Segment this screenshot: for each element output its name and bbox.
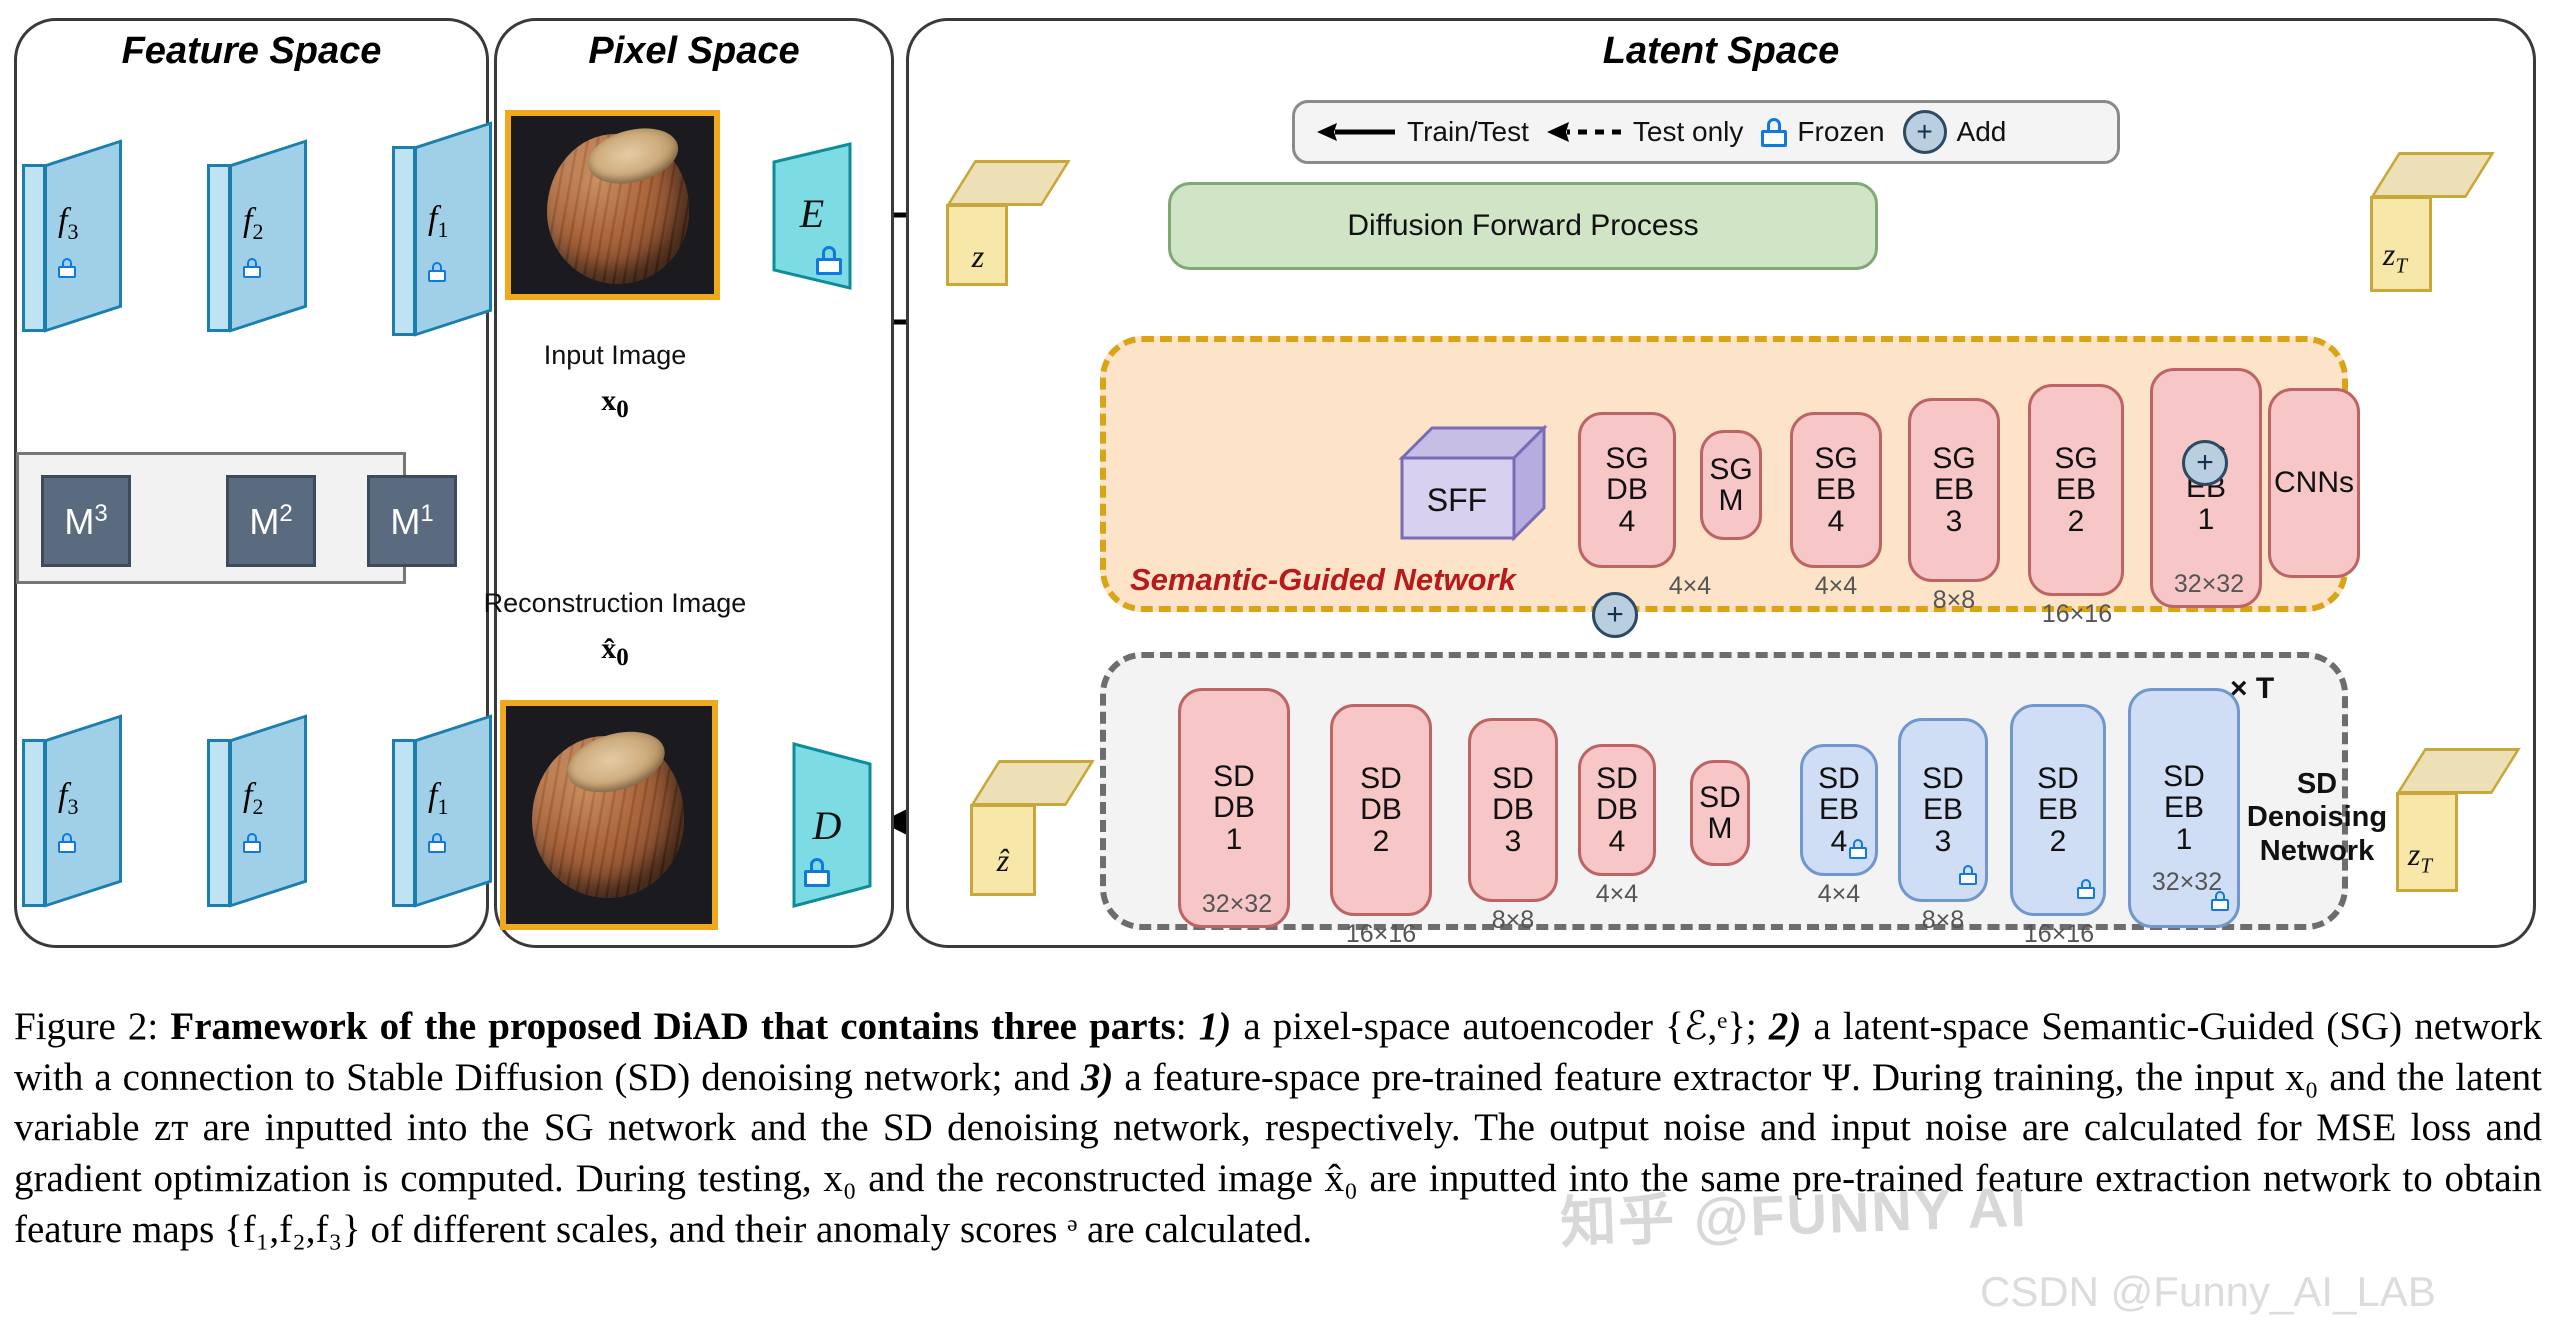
recon-image-symbol: x̂0 <box>450 632 780 672</box>
sg-block-dim-5: 32×32 <box>2153 571 2265 597</box>
slab-face <box>229 714 307 907</box>
solid-arrow-icon <box>1317 121 1397 143</box>
input-image-symbol: x0 <box>470 384 760 424</box>
latent-z-cube: z <box>940 160 1060 290</box>
block-line-3: 3 <box>1935 826 1952 857</box>
sg-block-dim-4: 16×16 <box>2022 600 2132 629</box>
sg-block-sg-m: SG M <box>1700 430 1762 540</box>
legend-label: Frozen <box>1797 116 1884 148</box>
latent-zT-cube-top: zT <box>2360 152 2500 292</box>
input-image <box>505 110 720 300</box>
caption-item-2: 2) <box>1769 1005 1802 1048</box>
block-line-2: DB <box>1492 794 1534 825</box>
sg-block-dim-3: 8×8 <box>1914 586 1994 615</box>
frozen-lock-icon <box>58 258 76 283</box>
frozen-lock-icon <box>1959 860 1977 891</box>
legend-train-test: Train/Test <box>1317 116 1529 148</box>
legend-label: Add <box>1957 116 2007 148</box>
watermark-csdn: CSDN @Funny_AI_LAB <box>1980 1268 2436 1316</box>
block-line-1: SD <box>1699 782 1741 813</box>
block-line-1: SG <box>1814 443 1857 474</box>
watermark-zhihu: 知乎 @FUNNY AI <box>1559 1162 2029 1259</box>
caption-bold-1: Framework of the proposed DiAD that cont… <box>170 1005 1175 1048</box>
cube-top-face <box>2370 152 2495 198</box>
block-line-2: M <box>1708 813 1733 844</box>
caption-item-1: 1) <box>1199 1005 1232 1048</box>
figure-caption: Figure 2: Framework of the proposed DiAD… <box>14 1002 2542 1255</box>
decoder-block: D <box>782 742 872 908</box>
cnns-label: CNNs <box>2274 467 2354 498</box>
block-line-3: 1 <box>2176 824 2193 855</box>
frozen-lock-icon <box>1761 118 1787 147</box>
block-line-2: EB <box>2056 474 2096 505</box>
add-circle-icon: + <box>1903 110 1947 154</box>
metric-block-label: M2 <box>249 500 292 543</box>
latent-z-hat-cube: ẑ <box>962 760 1092 900</box>
dashed-arrow-icon <box>1547 121 1623 143</box>
slab-face <box>44 139 122 332</box>
block-line-2: EB <box>1819 794 1859 825</box>
slab-face <box>44 714 122 907</box>
block-line-2: M <box>1719 485 1744 516</box>
sg-block-sg-eb-4: SG EB 4 <box>1790 412 1882 568</box>
slab-side <box>22 164 46 332</box>
slab-face <box>414 714 492 907</box>
sg-block-dim-0: 4×4 <box>1650 572 1730 601</box>
frozen-lock-icon <box>58 833 76 858</box>
metric-block-m1: M1 <box>367 475 457 567</box>
input-image-caption: Input Image <box>470 340 760 371</box>
sg-block-sg-db-4: SG DB 4 <box>1578 412 1676 568</box>
frozen-lock-icon <box>804 858 830 892</box>
legend-frozen: Frozen <box>1761 116 1884 148</box>
latent-zT-label-bottom: zT <box>2350 836 2490 878</box>
feature-label-f3: f3 <box>58 777 78 820</box>
block-line-3: 2 <box>2050 826 2067 857</box>
decoder-symbol: D <box>782 802 872 849</box>
block-line-1: SD <box>1213 761 1255 792</box>
sd-block-sd-eb-4: SD EB 4 <box>1800 744 1878 876</box>
sd-block-dim-7: 16×16 <box>2004 920 2114 949</box>
feature-label-f1: f1 <box>428 777 448 820</box>
block-line-3: 3 <box>1505 826 1522 857</box>
block-line-3: 4 <box>1609 826 1626 857</box>
feature-label-f2: f2 <box>243 777 263 820</box>
sd-block-dim-2: 8×8 <box>1468 906 1558 935</box>
block-line-1: SG <box>1605 443 1648 474</box>
block-line-1: SG <box>1709 454 1752 485</box>
block-line-1: SG <box>2054 443 2097 474</box>
caption-text-1: : <box>1176 1005 1199 1048</box>
slab-side <box>392 146 416 336</box>
feature-label-f2: f2 <box>243 202 263 245</box>
latent-zT-label: zT <box>2325 236 2465 278</box>
sg-block-sg-eb-2: SG EB 2 <box>2028 384 2124 596</box>
semantic-guided-network-title: Semantic-Guided Network <box>1130 562 1516 598</box>
sd-block-dim-5: 4×4 <box>1800 880 1878 909</box>
sdn-line-2: Denoising <box>2247 801 2387 833</box>
block-line-2: DB <box>1596 794 1638 825</box>
block-line-3: 2 <box>1373 826 1390 857</box>
feature-label-f1: f1 <box>428 200 448 243</box>
frozen-lock-icon <box>243 833 261 858</box>
encoder-block: E <box>772 142 852 290</box>
frozen-lock-icon <box>428 262 446 287</box>
sd-block-dim-1: 16×16 <box>1326 920 1436 949</box>
sg-block-dim-2: 4×4 <box>1796 572 1876 601</box>
cube-top-face <box>946 160 1071 206</box>
metric-block-m3: M3 <box>41 475 131 567</box>
sd-block-sd-db-2: SD DB 2 <box>1330 704 1432 916</box>
block-line-1: SD <box>1818 763 1860 794</box>
legend-label: Test only <box>1633 116 1744 148</box>
diffusion-forward-process-box: Diffusion Forward Process <box>1168 182 1878 270</box>
block-line-3: 4 <box>1831 826 1848 857</box>
block-line-2: EB <box>1923 794 1963 825</box>
block-line-2: DB <box>1360 794 1402 825</box>
slab-side <box>392 739 416 907</box>
metric-block-label: M1 <box>390 500 433 543</box>
block-line-2: DB <box>1213 792 1255 823</box>
block-line-1: SD <box>1922 763 1964 794</box>
slab-side <box>207 739 231 907</box>
metric-block-label: M3 <box>64 500 107 543</box>
frozen-lock-icon <box>428 833 446 858</box>
legend-test-only: Test only <box>1547 116 1744 148</box>
frozen-lock-icon <box>1849 834 1867 865</box>
latent-zT-cube-bottom: zT <box>2386 748 2526 898</box>
caption-item-3: 3) <box>1081 1056 1114 1099</box>
sd-block-sd-eb-2: SD EB 2 <box>2010 704 2106 916</box>
sg-block-sg-eb-3: SG EB 3 <box>1908 398 2000 582</box>
sd-block-dim-6: 8×8 <box>1898 906 1988 935</box>
block-line-2: EB <box>2164 792 2204 823</box>
legend-box: Train/Test Test only Frozen + Add <box>1292 100 2120 164</box>
block-line-1: SD <box>1360 763 1402 794</box>
block-line-2: EB <box>2038 794 2078 825</box>
sd-block-sd-db-4: SD DB 4 <box>1578 744 1656 876</box>
cube-top-face <box>970 760 1095 806</box>
sff-block: SFF <box>1398 424 1548 542</box>
metric-blocks-container: M3 M2 M1 <box>16 452 406 584</box>
frozen-lock-icon <box>2077 874 2095 905</box>
frozen-lock-icon <box>243 258 261 283</box>
add-node-cnns: + <box>2182 440 2228 486</box>
feature-space-title: Feature Space <box>14 30 489 73</box>
sd-block-sd-db-3: SD DB 3 <box>1468 718 1558 902</box>
metric-block-m2: M2 <box>226 475 316 567</box>
slab-side <box>22 739 46 907</box>
block-line-1: SD <box>1596 763 1638 794</box>
caption-text-2: a pixel-space autoencoder {ℰ,ᵉ}; <box>1231 1005 1769 1048</box>
latent-z-label: z <box>918 238 1038 275</box>
sd-block-dim-0: 32×32 <box>1181 891 1293 917</box>
pixel-space-title: Pixel Space <box>494 30 894 73</box>
hazelnut-shape <box>547 134 689 284</box>
slab-side <box>207 164 231 332</box>
slab-face <box>229 139 307 332</box>
frozen-lock-icon <box>816 246 842 280</box>
caption-prefix: Figure 2: <box>14 1005 170 1048</box>
sd-block-sd-db-1: SD DB 1 32×32 <box>1178 688 1290 928</box>
sd-block-sd-m: SD M <box>1690 760 1750 866</box>
sd-block-sd-eb-3: SD EB 3 <box>1898 718 1988 902</box>
block-line-2: EB <box>1934 474 1974 505</box>
latent-z-hat-label: ẑ <box>938 842 1068 879</box>
block-line-3: 3 <box>1946 506 1963 537</box>
block-line-3: 4 <box>1619 506 1636 537</box>
encoder-symbol: E <box>772 190 852 237</box>
slab-face <box>414 121 492 336</box>
block-line-1: SD <box>2037 763 2079 794</box>
block-line-2: DB <box>1606 474 1648 505</box>
block-line-3: 1 <box>1226 824 1243 855</box>
block-line-1: SD <box>2163 761 2205 792</box>
legend-label: Train/Test <box>1407 116 1529 148</box>
reconstruction-image <box>500 700 718 930</box>
block-line-3: 4 <box>1828 506 1845 537</box>
block-line-1: SD <box>1492 763 1534 794</box>
add-node-sg-to-sd: + <box>1592 592 1638 638</box>
recon-image-caption: Reconstruction Image <box>450 588 780 619</box>
hazelnut-shape <box>532 736 684 898</box>
sg-block-sg-eb-1: SG EB 1 32×32 <box>2150 368 2262 608</box>
sd-block-dim-3: 4×4 <box>1578 880 1656 909</box>
block-line-3: 2 <box>2068 506 2085 537</box>
legend-add: + Add <box>1903 110 2007 154</box>
block-line-2: EB <box>1816 474 1856 505</box>
sdn-line-1: SD <box>2297 768 2337 800</box>
cnns-block: CNNs <box>2268 388 2360 578</box>
feature-label-f3: f3f3 <box>58 202 78 245</box>
latent-space-title: Latent Space <box>906 30 2536 73</box>
frozen-lock-icon <box>2211 886 2229 917</box>
block-line-1: SG <box>1932 443 1975 474</box>
sff-label: SFF <box>1382 482 1532 519</box>
cube-top-face <box>2396 748 2521 794</box>
block-line-3: 1 <box>2198 504 2215 535</box>
